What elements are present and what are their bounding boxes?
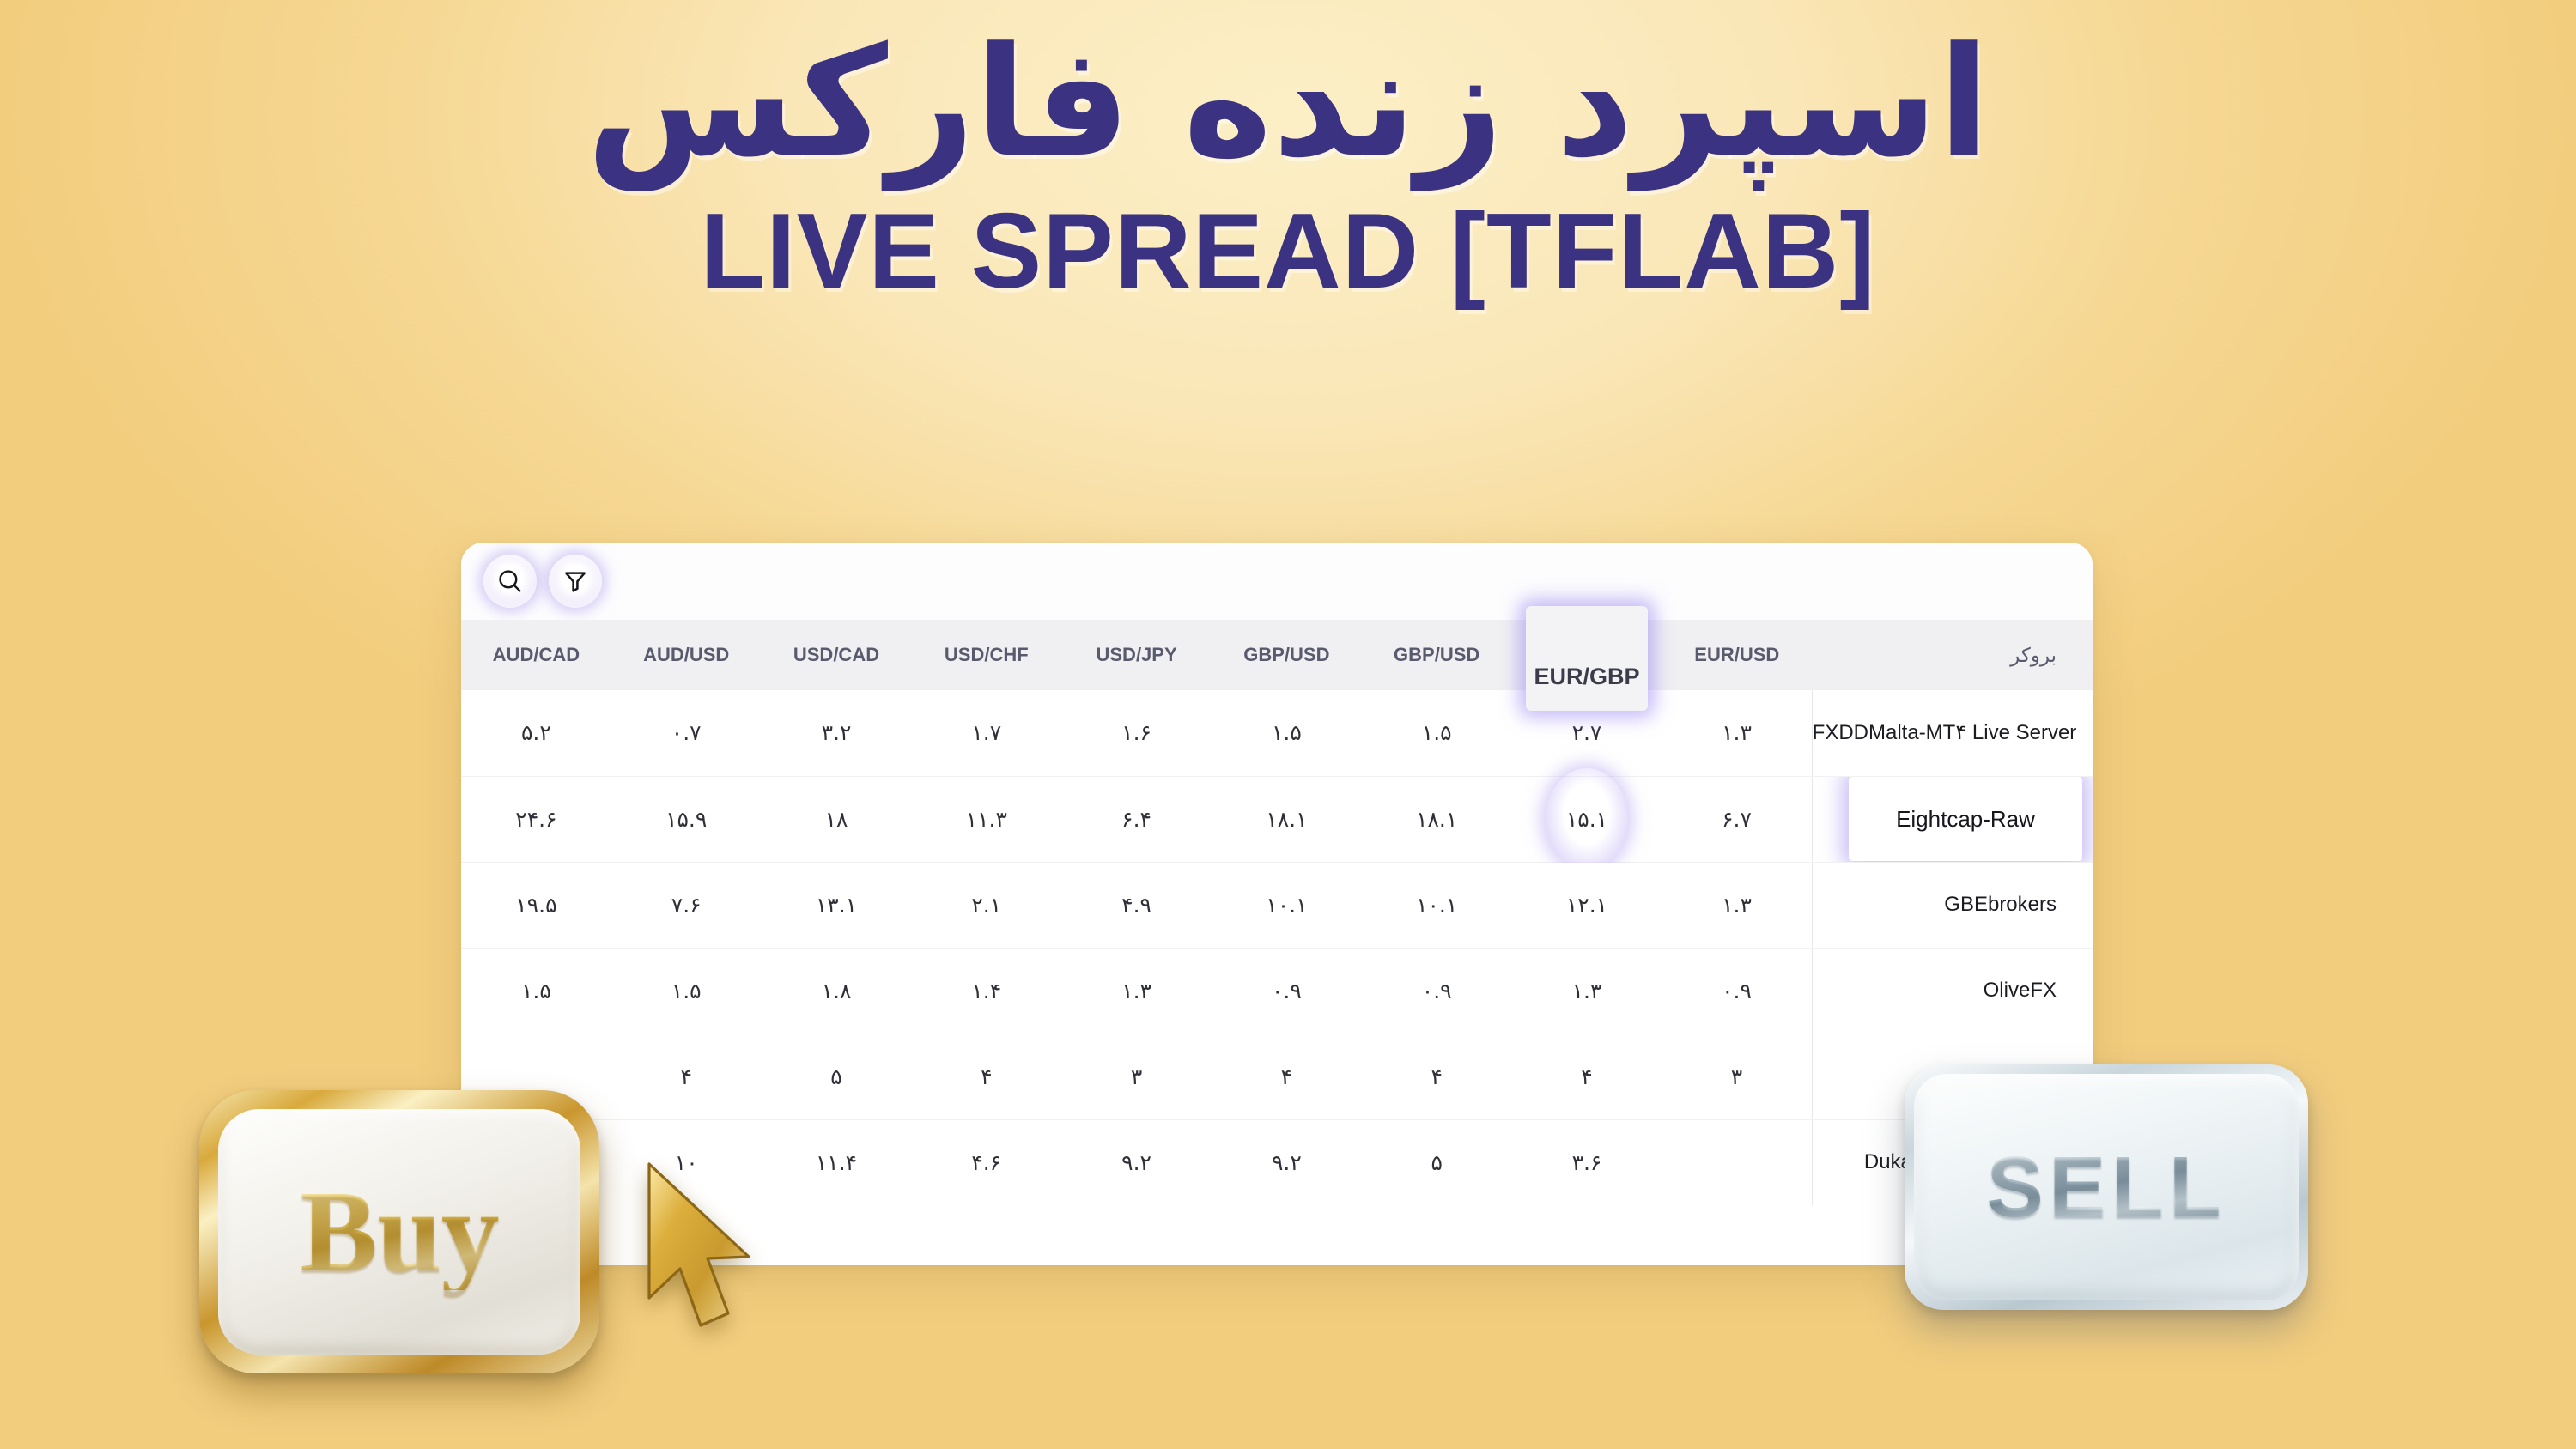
column-header-aud-usd[interactable]: AUD/USD	[611, 620, 762, 690]
page-title-persian: اسپرد زنده فارکس	[0, 24, 2576, 183]
cell-eur-usd: ۰.۹	[1662, 948, 1812, 1034]
cell-aud-cad: ۱۹.۵	[461, 862, 611, 948]
table-row[interactable]: ۲۴.۶ ۱۵.۹ ۱۸ ۱۱.۳ ۶.۴ ۱۸.۱ ۱۸.۱ ۱۵.۱ ۶.۷…	[461, 776, 2093, 862]
cell-usd-jpy: ۱.۶	[1061, 690, 1212, 776]
cell-broker-highlighted: Eightcap-Raw	[1812, 776, 2093, 862]
buy-button-label: Buy	[300, 1173, 498, 1290]
cell-gbp-usd-2: ۱.۵	[1362, 690, 1512, 776]
table-toolbar	[461, 543, 2093, 620]
cell-gbp-usd-1: ۰.۹	[1212, 948, 1362, 1034]
table-row[interactable]: ۱.۵ ۱.۵ ۱.۸ ۱.۴ ۱.۳ ۰.۹ ۰.۹ ۱.۳ ۰.۹ Oliv…	[461, 948, 2093, 1034]
cell-eur-gbp-value: ۱۵.۱	[1566, 807, 1607, 832]
cell-broker: FXDDMalta-MT۴ Live Server	[1812, 690, 2093, 776]
cell-gbp-usd-1: ۹.۲	[1212, 1119, 1362, 1205]
cell-gbp-usd-1: ۱.۵	[1212, 690, 1362, 776]
table-body: ۵.۲ ۰.۷ ۳.۲ ۱.۷ ۱.۶ ۱.۵ ۱.۵ ۲.۷ ۱.۳ FXDD…	[461, 690, 2093, 1205]
table-row[interactable]: ۴ ۵ ۴ ۳ ۴ ۴ ۴ ۳	[461, 1034, 2093, 1119]
column-header-gbp-usd-1[interactable]: GBP/USD	[1212, 620, 1362, 690]
cell-eur-usd: ۱.۳	[1662, 862, 1812, 948]
cell-aud-cad: ۵.۲	[461, 690, 611, 776]
column-header-eur-usd[interactable]: EUR/USD	[1662, 620, 1812, 690]
cell-usd-chf: ۱.۴	[911, 948, 1061, 1034]
cell-eur-usd	[1662, 1119, 1812, 1205]
cell-usd-cad: ۵	[762, 1034, 912, 1119]
buy-button[interactable]: Buy	[199, 1090, 599, 1373]
cell-usd-chf: ۱.۷	[911, 690, 1061, 776]
cell-usd-cad: ۳.۲	[762, 690, 912, 776]
cell-gbp-usd-2: ۵	[1362, 1119, 1512, 1205]
column-header-broker[interactable]: بروکر	[1812, 620, 2093, 690]
sell-button[interactable]: SELL	[1905, 1064, 2308, 1310]
page-title-english: LIVE SPREAD [TFLAB]	[0, 198, 2576, 305]
search-button[interactable]	[483, 555, 537, 608]
cell-usd-cad: ۱۸	[762, 776, 912, 862]
cell-usd-chf: ۴	[911, 1034, 1061, 1119]
column-header-aud-cad[interactable]: AUD/CAD	[461, 620, 611, 690]
cell-gbp-usd-2: ۱۰.۱	[1362, 862, 1512, 948]
cell-usd-chf: ۴.۶	[911, 1119, 1061, 1205]
buy-button-face: Buy	[218, 1109, 580, 1355]
cell-eur-usd: ۳	[1662, 1034, 1812, 1119]
cell-aud-usd: ۰.۷	[611, 690, 762, 776]
sell-button-face: SELL	[1914, 1074, 2299, 1300]
cell-usd-cad: ۱۱.۴	[762, 1119, 912, 1205]
cell-broker: GBEbrokers	[1812, 862, 2093, 948]
column-header-usd-cad[interactable]: USD/CAD	[762, 620, 912, 690]
cell-aud-usd: ۴	[611, 1034, 762, 1119]
cell-eur-usd: ۶.۷	[1662, 776, 1812, 862]
cell-gbp-usd-2: ۰.۹	[1362, 948, 1512, 1034]
cell-gbp-usd-2: ۴	[1362, 1034, 1512, 1119]
cell-eur-gbp-highlighted: ۱۵.۱	[1512, 776, 1662, 862]
cell-eur-gbp: ۱۲.۱	[1512, 862, 1662, 948]
filter-button[interactable]	[549, 555, 602, 608]
mouse-pointer-icon	[642, 1161, 771, 1341]
spread-table: AUD/CAD AUD/USD USD/CAD USD/CHF USD/JPY …	[461, 620, 2093, 1205]
cell-gbp-usd-1: ۱۰.۱	[1212, 862, 1362, 948]
broker-highlight-card[interactable]: Eightcap-Raw	[1849, 777, 2082, 861]
column-header-eur-gbp[interactable]: EUR/GBP	[1512, 620, 1662, 690]
headline-block: اسپرد زنده فارکس LIVE SPREAD [TFLAB]	[0, 24, 2576, 305]
cell-usd-cad: ۱۳.۱	[762, 862, 912, 948]
cell-gbp-usd-1: ۱۸.۱	[1212, 776, 1362, 862]
table-row[interactable]: ۱۹.۵ ۷.۶ ۱۳.۱ ۲.۱ ۴.۹ ۱۰.۱ ۱۰.۱ ۱۲.۱ ۱.۳…	[461, 862, 2093, 948]
cell-eur-usd: ۱.۳	[1662, 690, 1812, 776]
search-icon	[495, 567, 525, 596]
column-header-gbp-usd-2[interactable]: GBP/USD	[1362, 620, 1512, 690]
cell-aud-usd: ۱۵.۹	[611, 776, 762, 862]
spread-table-panel: AUD/CAD AUD/USD USD/CAD USD/CHF USD/JPY …	[461, 543, 2093, 1265]
column-header-usd-chf[interactable]: USD/CHF	[911, 620, 1061, 690]
cell-aud-cad: ۲۴.۶	[461, 776, 611, 862]
cell-usd-jpy: ۹.۲	[1061, 1119, 1212, 1205]
cell-eur-gbp: ۳.۶	[1512, 1119, 1662, 1205]
cell-usd-chf: ۲.۱	[911, 862, 1061, 948]
cell-usd-cad: ۱.۸	[762, 948, 912, 1034]
cell-usd-jpy: ۶.۴	[1061, 776, 1212, 862]
cell-aud-cad: ۱.۵	[461, 948, 611, 1034]
column-header-eur-gbp-highlight[interactable]: EUR/GBP	[1526, 606, 1648, 711]
table-row[interactable]: ۵.۲ ۰.۷ ۳.۲ ۱.۷ ۱.۶ ۱.۵ ۱.۵ ۲.۷ ۱.۳ FXDD…	[461, 690, 2093, 776]
cell-broker: OliveFX	[1812, 948, 2093, 1034]
cell-usd-jpy: ۳	[1061, 1034, 1212, 1119]
cell-aud-usd: ۷.۶	[611, 862, 762, 948]
cell-gbp-usd-1: ۴	[1212, 1034, 1362, 1119]
cell-eur-gbp: ۱.۳	[1512, 948, 1662, 1034]
cell-usd-jpy: ۱.۳	[1061, 948, 1212, 1034]
cell-gbp-usd-2: ۱۸.۱	[1362, 776, 1512, 862]
table-header-row: AUD/CAD AUD/USD USD/CAD USD/CHF USD/JPY …	[461, 620, 2093, 690]
filter-icon	[562, 567, 589, 595]
sell-button-label: SELL	[1986, 1144, 2227, 1230]
cell-usd-jpy: ۴.۹	[1061, 862, 1212, 948]
cell-aud-usd: ۱.۵	[611, 948, 762, 1034]
cell-eur-gbp: ۴	[1512, 1034, 1662, 1119]
cell-usd-chf: ۱۱.۳	[911, 776, 1061, 862]
column-header-usd-jpy[interactable]: USD/JPY	[1061, 620, 1212, 690]
